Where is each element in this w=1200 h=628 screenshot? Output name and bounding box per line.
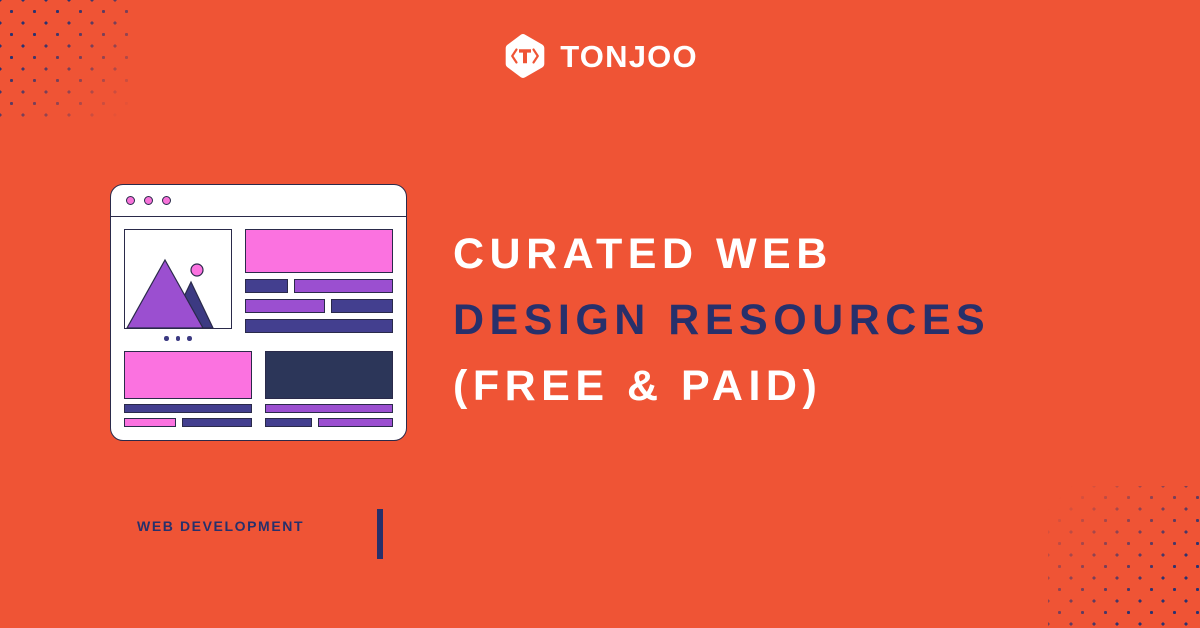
browser-mockup-illustration: [110, 184, 407, 441]
brand-name: TONJOO: [560, 41, 698, 72]
placeholder-bar: [294, 279, 393, 293]
browser-title-bar: [111, 185, 406, 217]
placeholder-bar: [318, 418, 393, 427]
placeholder-bar: [265, 418, 312, 427]
content-row-top: [124, 229, 393, 341]
headline-line-2: DESIGN RESOURCES: [453, 287, 1153, 353]
window-dot-icon: [144, 196, 153, 205]
category-label: WEB DEVELOPMENT: [137, 518, 304, 534]
content-card-right: [265, 351, 393, 427]
placeholder-bar: [331, 299, 393, 313]
placeholder-bar: [245, 299, 325, 313]
mountain-landscape-icon: [124, 229, 232, 329]
page-title: CURATED WEB DESIGN RESOURCES (FREE & PAI…: [453, 221, 1153, 419]
placeholder-bar: [182, 418, 252, 427]
carousel-dot-icon: [176, 336, 181, 341]
carousel-dot-icon: [187, 336, 192, 341]
content-row-bottom: [124, 351, 393, 427]
brand-lockup: TONJOO: [0, 33, 1200, 79]
window-dot-icon: [162, 196, 171, 205]
decorative-dot-pattern-bottom-right: [1048, 486, 1200, 628]
placeholder-line-row: [124, 418, 252, 427]
placeholder-bar: [124, 418, 176, 427]
promo-banner: TONJOO: [0, 0, 1200, 628]
placeholder-bar: [265, 404, 393, 413]
carousel-dots: [124, 336, 232, 341]
carousel-dot-icon: [164, 336, 169, 341]
content-column-right: [245, 229, 393, 341]
placeholder-line-row: [265, 418, 393, 427]
category-divider-rule: [377, 509, 383, 559]
headline-line-1: CURATED WEB: [453, 221, 1153, 287]
placeholder-line-row: [245, 299, 393, 313]
placeholder-block: [124, 351, 252, 399]
placeholder-bar: [245, 279, 288, 293]
placeholder-bar: [245, 319, 393, 333]
browser-content-area: [111, 217, 406, 440]
placeholder-block: [245, 229, 393, 273]
window-dot-icon: [126, 196, 135, 205]
placeholder-block: [265, 351, 393, 399]
headline-line-3: (FREE & PAID): [453, 353, 1153, 419]
thumbnail-block: [124, 229, 232, 341]
content-card-left: [124, 351, 252, 427]
category-label-group: WEB DEVELOPMENT: [137, 518, 304, 534]
tonjoo-hexagon-logo-icon: [502, 33, 548, 79]
placeholder-bar: [124, 404, 252, 413]
placeholder-line-row: [245, 279, 393, 293]
